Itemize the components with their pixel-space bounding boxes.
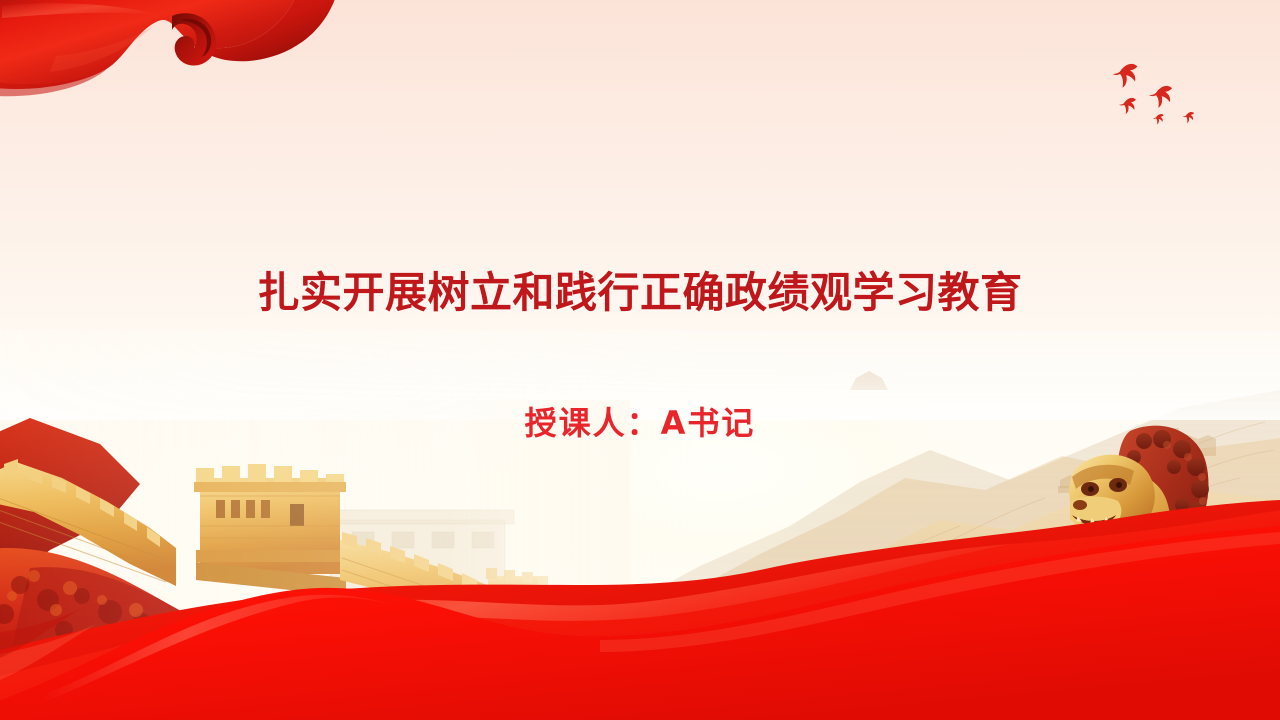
slide-text-layer: 扎实开展树立和践行正确政绩观学习教育 授课人：A书记 xyxy=(0,0,1280,720)
slide-subtitle-presenter: 授课人：A书记 xyxy=(0,398,1280,444)
slide-title: 扎实开展树立和践行正确政绩观学习教育 xyxy=(0,268,1280,318)
presentation-slide: 扎实开展树立和践行正确政绩观学习教育 授课人：A书记 xyxy=(0,0,1280,720)
